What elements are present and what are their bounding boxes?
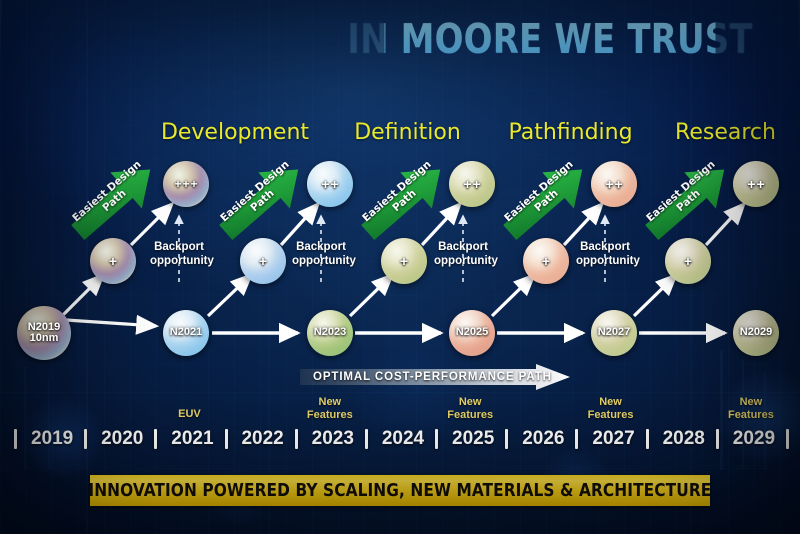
timeline-note-2025: NewFeatures [430, 396, 510, 421]
edp-line2: Path [79, 169, 152, 234]
timeline-year-2024: 2024 [368, 424, 438, 454]
plus-icon: + [605, 177, 613, 191]
wafer-plus-row-mid-2020: + [109, 254, 117, 268]
backport-opportunity-label-4: Backportopportunity [576, 241, 634, 269]
timeline-note-line2: Features [290, 409, 370, 422]
plus-icon: + [463, 177, 471, 191]
plus-icon: + [191, 178, 198, 190]
stage-label-pathfinding: Pathfinding [503, 120, 638, 145]
wafer-plus-row-top-2023: ++ [321, 177, 338, 191]
timeline-note-line2: Features [711, 409, 791, 422]
wafer-node-name: N2023 [314, 327, 346, 338]
timeline-note-line1: New [430, 396, 510, 409]
wafer-node-n2019: N201910nm [17, 306, 71, 360]
wafer-plus-row-mid-2024: + [400, 254, 408, 268]
wafer-plus-row-top-2021: +++ [174, 178, 197, 190]
wafer-label-n2027: N2027 [598, 327, 630, 338]
wafer-node-top-2021: +++ [163, 161, 209, 207]
timeline-axis: 2019202020212022202320242025202620272028… [0, 424, 800, 454]
timeline-tick-end [786, 429, 789, 449]
easiest-design-path-arrow-2: Easiest DesignPath [210, 155, 314, 247]
timeline-note-line1: EUV [149, 408, 229, 421]
easiest-design-path-label-3: Easiest DesignPath [361, 160, 441, 234]
timeline-year-2023: 2023 [298, 424, 368, 454]
easiest-design-path-arrow-1: Easiest DesignPath [62, 155, 166, 247]
edp-line1: Easiest Design [361, 160, 434, 225]
edp-line1: Easiest Design [645, 160, 718, 225]
backport-line2: opportunity [434, 255, 492, 269]
wafer-plus-row-top-2025: ++ [463, 177, 480, 191]
bottom-banner: INNOVATION POWERED BY SCALING, NEW MATER… [90, 475, 710, 506]
easiest-design-path-arrow-4: Easiest DesignPath [494, 155, 598, 247]
easiest-design-path-arrow-3: Easiest DesignPath [352, 155, 456, 247]
wafer-node-sublabel: 10nm [28, 333, 60, 344]
stage-label-research: Research [668, 120, 783, 145]
edp-line2: Path [511, 169, 584, 234]
timeline-note-line2: Features [571, 409, 651, 422]
timeline-year-2021: 2021 [157, 424, 227, 454]
wafer-node-top-2023: ++ [307, 161, 353, 207]
backport-opportunity-label-2: Backportopportunity [292, 241, 350, 269]
timeline-year-2025: 2025 [438, 424, 508, 454]
timeline-year-2026: 2026 [508, 424, 578, 454]
optimal-cost-performance-banner: OPTIMAL COST-PERFORMANCE PATH [300, 364, 570, 390]
backport-line2: opportunity [576, 255, 634, 269]
wafer-label-n2025: N2025 [456, 327, 488, 338]
wafer-label-n2023: N2023 [314, 327, 346, 338]
wafer-node-n2027: N2027 [591, 310, 637, 356]
wafer-node-name: N2025 [456, 327, 488, 338]
optimal-path-label: OPTIMAL COST-PERFORMANCE PATH [313, 364, 552, 390]
easiest-design-path-label-2: Easiest DesignPath [219, 160, 299, 234]
backport-opportunity-label-3: Backportopportunity [434, 241, 492, 269]
plus-icon: + [259, 254, 267, 268]
wafer-node-n2021: N2021 [163, 310, 209, 356]
backport-line2: opportunity [292, 255, 350, 269]
backport-line1: Backport [576, 241, 634, 255]
wafer-label-n2029: N2029 [740, 327, 772, 338]
wafer-plus-row-mid-2022: + [259, 254, 267, 268]
wafer-plus-row-mid-2026: + [542, 254, 550, 268]
bottom-banner-label: INNOVATION POWERED BY SCALING, NEW MATER… [89, 480, 712, 501]
backport-opportunity-label-1: Backportopportunity [150, 241, 208, 269]
backport-line1: Backport [434, 241, 492, 255]
stage-label-development: Development [160, 120, 310, 145]
wafer-plus-row-top-2027: ++ [605, 177, 622, 191]
timeline-year-2020: 2020 [87, 424, 157, 454]
easiest-design-path-label-4: Easiest DesignPath [503, 160, 583, 234]
easiest-design-path-label-1: Easiest DesignPath [71, 160, 151, 234]
edp-line1: Easiest Design [219, 160, 292, 225]
wafer-node-n2029: N2029 [733, 310, 779, 356]
slide-title: IN MOORE WE TRUST [384, 14, 715, 64]
green-arrow-shape [210, 155, 314, 247]
wafer-label-n2021: N2021 [170, 327, 202, 338]
wafer-node-mid-2020: + [90, 238, 136, 284]
plus-icon: + [182, 178, 189, 190]
timeline-note-line2: Features [430, 409, 510, 422]
plus-icon: + [615, 177, 623, 191]
plus-icon: + [747, 177, 755, 191]
green-arrow-shape [494, 155, 598, 247]
wafer-node-n2023: N2023 [307, 310, 353, 356]
edp-line1: Easiest Design [503, 160, 576, 225]
wafer-node-name: N2021 [170, 327, 202, 338]
plus-icon: + [109, 254, 117, 268]
timeline-year-2022: 2022 [228, 424, 298, 454]
edp-line2: Path [653, 169, 726, 234]
stage-label-definition: Definition [345, 120, 470, 145]
easiest-design-path-arrow-5: Easiest DesignPath [636, 155, 740, 247]
plus-icon: + [684, 254, 692, 268]
wafer-node-n2025: N2025 [449, 310, 495, 356]
wafer-node-mid-2022: + [240, 238, 286, 284]
green-arrow-shape [352, 155, 456, 247]
wafer-node-mid-2024: + [381, 238, 427, 284]
slide-canvas: IN MOORE WE TRUST DevelopmentDefinitionP… [0, 0, 800, 534]
plus-icon: + [174, 178, 181, 190]
easiest-design-path-label-5: Easiest DesignPath [645, 160, 725, 234]
wafer-node-name: N2027 [598, 327, 630, 338]
plus-icon: + [400, 254, 408, 268]
timeline-note-2029: NewFeatures [711, 396, 791, 421]
plus-icon: + [757, 177, 765, 191]
timeline-note-line1: New [571, 396, 651, 409]
wafer-node-top-2025: ++ [449, 161, 495, 207]
edp-line1: Easiest Design [71, 160, 144, 225]
plus-icon: + [321, 177, 329, 191]
plus-icon: + [473, 177, 481, 191]
backport-line1: Backport [292, 241, 350, 255]
wafer-node-top-2029: ++ [733, 161, 779, 207]
timeline-note-2023: NewFeatures [290, 396, 370, 421]
timeline-year-2028: 2028 [649, 424, 719, 454]
timeline-note-2027: NewFeatures [571, 396, 651, 421]
wafer-node-name: N2029 [740, 327, 772, 338]
timeline-year-2019: 2019 [17, 424, 87, 454]
wafer-node-mid-2028: + [665, 238, 711, 284]
wafer-label-n2019: N201910nm [28, 322, 60, 344]
edp-line2: Path [227, 169, 300, 234]
edp-line2: Path [369, 169, 442, 234]
plus-icon: + [542, 254, 550, 268]
timeline-note-line1: New [711, 396, 791, 409]
wafer-plus-row-mid-2028: + [684, 254, 692, 268]
backport-line2: opportunity [150, 255, 208, 269]
plus-icon: + [331, 177, 339, 191]
green-arrow-shape [62, 155, 166, 247]
timeline-year-2029: 2029 [719, 424, 789, 454]
timeline-year-2027: 2027 [578, 424, 648, 454]
timeline-note-line1: New [290, 396, 370, 409]
wafer-node-top-2027: ++ [591, 161, 637, 207]
backport-line1: Backport [150, 241, 208, 255]
green-arrow-shape [636, 155, 740, 247]
wafer-node-mid-2026: + [523, 238, 569, 284]
timeline-note-2021: EUV [149, 408, 229, 421]
wafer-plus-row-top-2029: ++ [747, 177, 764, 191]
